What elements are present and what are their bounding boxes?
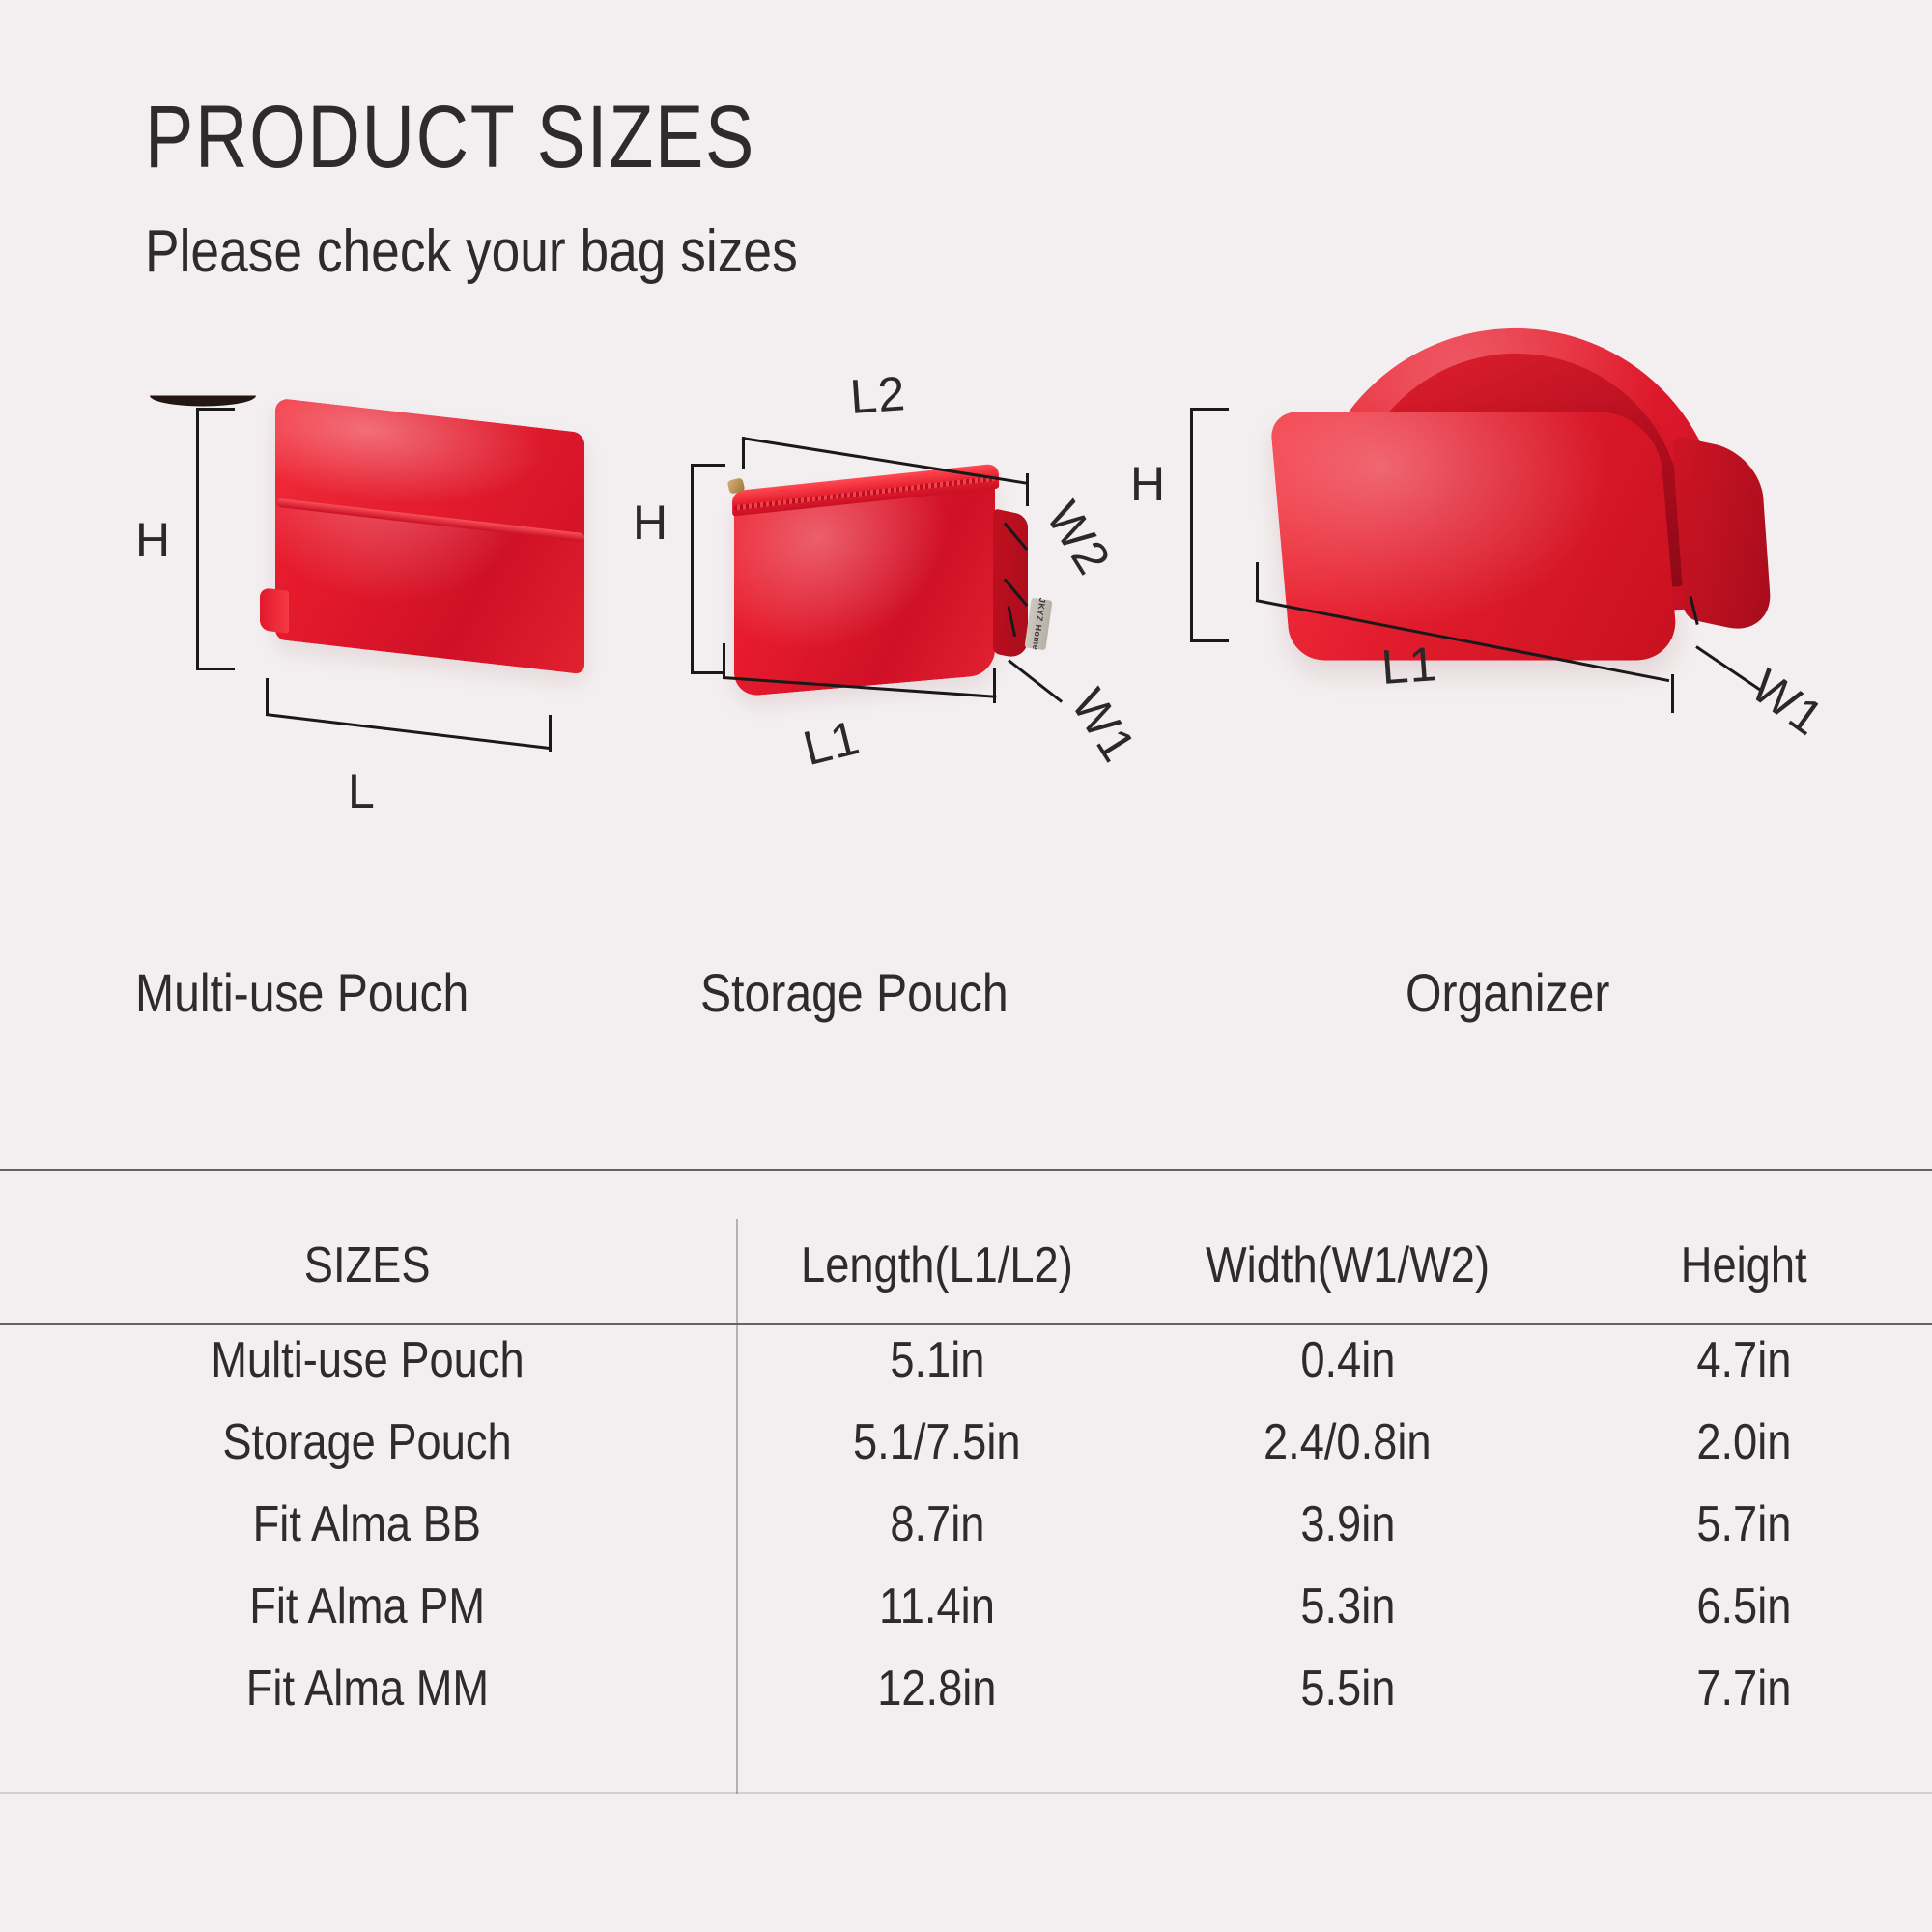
dim-label-l1-organizer: L1 (1379, 636, 1439, 696)
dim-label-l1-pouch2: L1 (798, 709, 866, 777)
cell-height: 5.7in (1555, 1483, 1932, 1565)
table-row: Fit Alma MM 12.8in 5.5in 7.7in (0, 1647, 1932, 1729)
cell-height: 2.0in (1555, 1401, 1932, 1483)
table-top-rule (0, 1169, 1932, 1171)
organizer-illustration (1246, 328, 1748, 734)
dim-l1-tick-left-pouch2 (723, 643, 725, 678)
cell-width: 5.3in (1140, 1565, 1555, 1647)
pouch-side-tab (260, 587, 289, 633)
illustration-band: H L JKYZ Home L2 H W2 (0, 415, 1932, 1024)
storage-pouch-illustration: JKYZ Home (734, 454, 1024, 696)
th-height-label: Height (1681, 1236, 1807, 1294)
th-sizes: SIZES (0, 1212, 734, 1319)
cell-length: 8.7in (734, 1483, 1140, 1565)
cell-height: 4.7in (1555, 1319, 1932, 1401)
cell-height: 7.7in (1555, 1647, 1932, 1729)
dim-l2-tick-left (742, 437, 745, 469)
cell-height: 6.5in (1555, 1565, 1932, 1647)
th-length: Length(L1/L2) (734, 1212, 1140, 1319)
dim-h-tick-top-organizer (1190, 408, 1229, 411)
cell-length: 5.1in (734, 1319, 1140, 1401)
dim-h-line-pouch1 (196, 408, 199, 670)
cell-length: 12.8in (734, 1647, 1140, 1729)
organizer-front-panel (1269, 412, 1679, 660)
dim-h-tick-bottom-pouch1 (196, 668, 235, 670)
dim-label-w1-organizer: W1 (1741, 658, 1833, 747)
table-row: Fit Alma BB 8.7in 3.9in 5.7in (0, 1483, 1932, 1565)
brand-tag: JKYZ Home (1024, 598, 1052, 651)
dim-label-l-pouch1: L (348, 763, 376, 819)
dim-label-l2: L2 (848, 365, 908, 425)
dim-label-h-pouch2: H (633, 495, 668, 551)
multi-use-pouch-illustration (275, 415, 604, 676)
cell-size: Fit Alma BB (0, 1483, 734, 1565)
dim-label-w1-pouch2: W1 (1061, 679, 1148, 772)
cell-size: Fit Alma MM (0, 1647, 734, 1729)
page-title: PRODUCT SIZES (145, 93, 767, 182)
dim-l1-tick-left-organizer (1256, 562, 1259, 601)
table-row: Storage Pouch 5.1/7.5in 2.4/0.8in 2.0in (0, 1401, 1932, 1483)
th-height: Height (1555, 1212, 1932, 1319)
cell-size: Storage Pouch (0, 1401, 734, 1483)
cell-width: 0.4in (1140, 1319, 1555, 1401)
th-width: Width(W1/W2) (1140, 1212, 1555, 1319)
table-header-row: SIZES Length(L1/L2) Width(W1/W2) Height (0, 1212, 1932, 1319)
dim-h-tick-bottom-pouch2 (691, 671, 725, 674)
cell-size: Fit Alma PM (0, 1565, 734, 1647)
table-row: Multi-use Pouch 5.1in 0.4in 4.7in (0, 1319, 1932, 1401)
brush-accent-icon (150, 396, 256, 407)
dim-h-tick-top-pouch2 (691, 464, 725, 467)
dim-label-h-pouch1: H (135, 512, 171, 568)
cell-size: Multi-use Pouch (0, 1319, 734, 1401)
caption-multi-use-pouch: Multi-use Pouch (135, 961, 469, 1024)
dim-l2-tick-right (1026, 473, 1029, 506)
dim-l-tick-right-pouch1 (549, 715, 552, 752)
cell-width: 5.5in (1140, 1647, 1555, 1729)
dim-h-line-organizer (1190, 408, 1193, 642)
dim-l1-tick-right-organizer (1671, 674, 1674, 713)
dim-l1-tick-right-pouch2 (993, 668, 996, 703)
cell-width: 3.9in (1140, 1483, 1555, 1565)
header-block: PRODUCT SIZES Please check your bag size… (145, 93, 904, 282)
caption-organizer: Organizer (1406, 961, 1609, 1024)
dim-h-tick-top-pouch1 (196, 408, 235, 411)
th-length-label: Length(L1/L2) (801, 1236, 1073, 1294)
cell-length: 11.4in (734, 1565, 1140, 1647)
caption-storage-pouch: Storage Pouch (700, 961, 1009, 1024)
dim-l-tick-left-pouch1 (266, 678, 269, 715)
dim-h-line-pouch2 (691, 464, 694, 674)
dim-h-tick-bottom-organizer (1190, 639, 1229, 642)
brand-tag-label: JKYZ Home (1030, 597, 1047, 651)
table-bottom-rule (0, 1792, 1932, 1794)
dim-label-w2: W2 (1036, 492, 1122, 584)
sizes-table: SIZES Length(L1/L2) Width(W1/W2) Height … (0, 1212, 1932, 1729)
page-subtitle: Please check your bag sizes (145, 222, 798, 282)
table-row: Fit Alma PM 11.4in 5.3in 6.5in (0, 1565, 1932, 1647)
organizer-side-gusset (1672, 435, 1774, 637)
cell-length: 5.1/7.5in (734, 1401, 1140, 1483)
dim-l-line-pouch1 (266, 713, 550, 750)
product-sizes-infographic: PRODUCT SIZES Please check your bag size… (0, 0, 1932, 1932)
cell-width: 2.4/0.8in (1140, 1401, 1555, 1483)
th-width-label: Width(W1/W2) (1206, 1236, 1490, 1294)
th-sizes-label: SIZES (304, 1236, 431, 1294)
dim-label-h-organizer: H (1130, 456, 1166, 512)
